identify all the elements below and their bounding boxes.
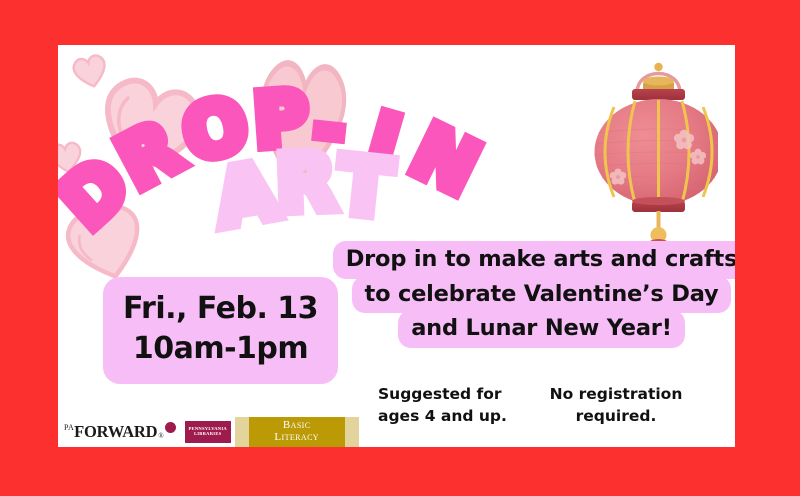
basic-literacy-logo: Basic Literacy (249, 417, 345, 447)
registered-mark: ® (158, 432, 163, 440)
logo-tan-bar-right (345, 417, 359, 447)
pa-forward-logo: PA FORWARD ® Pennsylvania Libraries (58, 417, 235, 447)
event-description: Drop in to make arts and crafts to celeb… (348, 241, 735, 345)
logo-tan-bar-left (235, 417, 249, 447)
title-letter: R (275, 144, 336, 224)
event-date: Fri., Feb. 13 (103, 289, 338, 329)
event-time: 10am-1pm (103, 329, 338, 369)
age-suggestion-note: Suggested for ages 4 and up. (378, 383, 528, 427)
title-letter: T (334, 147, 394, 230)
description-line: Drop in to make arts and crafts (333, 241, 735, 279)
pa-libraries-logo: Pennsylvania Libraries (185, 421, 231, 443)
basic-literacy-line2: Literacy (274, 432, 319, 444)
description-line: and Lunar New Year! (398, 310, 685, 348)
pa-forward-superscript: PA (64, 423, 74, 432)
title-letter: A (210, 152, 281, 239)
pa-libraries-line2: Libraries (194, 432, 222, 437)
poster-card: D R O P - I N A R T (58, 45, 735, 447)
poster-root: D R O P - I N A R T (0, 0, 800, 496)
description-line: to celebrate Valentine’s Day (352, 276, 732, 314)
pa-forward-dot-icon (165, 422, 176, 433)
logo-bar: PA FORWARD ® Pennsylvania Libraries Basi… (58, 417, 359, 447)
pa-forward-wordmark: FORWARD (74, 422, 157, 442)
lantern-graphic (588, 45, 718, 263)
event-date-box: Fri., Feb. 13 10am-1pm (103, 277, 338, 384)
registration-note: No registration required. (536, 383, 696, 427)
title-letter: N (401, 113, 488, 206)
chinese-lantern-icon (588, 45, 718, 263)
